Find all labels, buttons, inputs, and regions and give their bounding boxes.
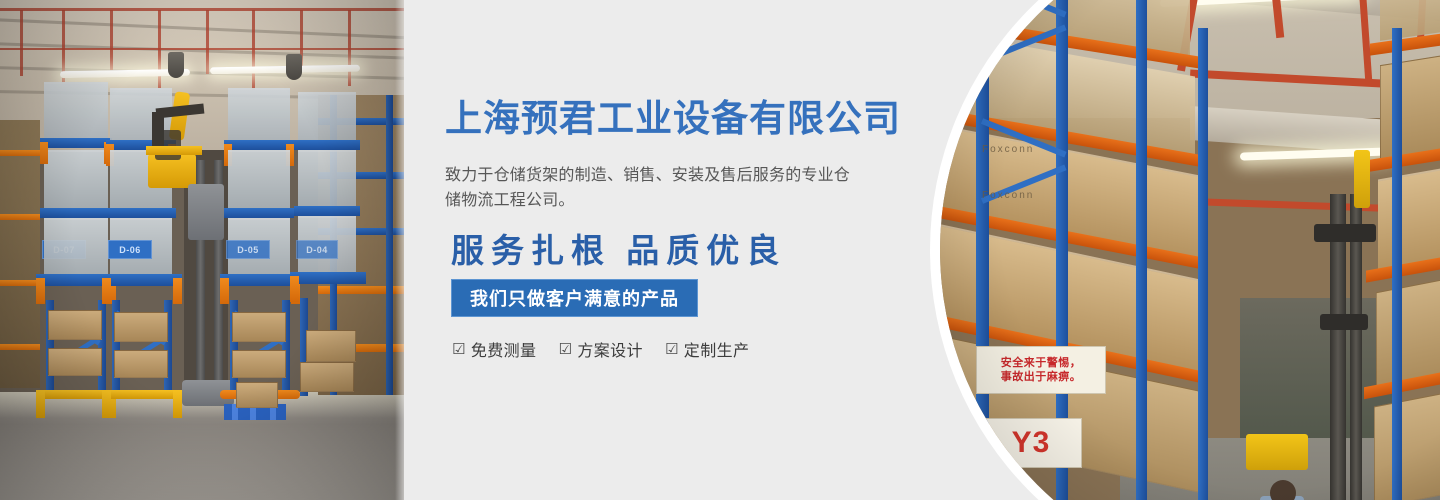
company-title: 上海预君工业设备有限公司 bbox=[445, 100, 901, 137]
feature-item-custom-production: ☑ 定制生产 bbox=[665, 337, 749, 361]
hero-text-panel: 上海预君工业设备有限公司 致力于仓储货架的制造、销售、安装及售后服务的专业仓储物… bbox=[404, 0, 1004, 500]
feature-item-free-measure: ☑ 免费测量 bbox=[452, 337, 536, 361]
feature-item-plan-design: ☑ 方案设计 bbox=[558, 337, 642, 361]
hero-banner: D-07 D-06 bbox=[0, 0, 1440, 500]
feature-label: 定制生产 bbox=[684, 337, 750, 361]
feature-label: 免费测量 bbox=[471, 337, 537, 361]
left-warehouse-photo: D-07 D-06 bbox=[0, 0, 404, 500]
photo-edge-fade bbox=[395, 0, 404, 500]
cta-button[interactable]: 我们只做客户满意的产品 bbox=[451, 279, 698, 317]
company-subtitle: 致力于仓储货架的制造、销售、安装及售后服务的专业仓储物流工程公司。 bbox=[445, 163, 865, 213]
feature-label: 方案设计 bbox=[577, 337, 643, 361]
feature-list: ☑ 免费测量 ☑ 方案设计 ☑ 定制生产 bbox=[452, 337, 749, 361]
check-icon: ☑ bbox=[452, 342, 466, 357]
right-warehouse-photo-circle: Foxconn Foxconn Foxconn Foxconn bbox=[930, 0, 1440, 500]
check-icon: ☑ bbox=[558, 342, 572, 357]
carton-brand-label: Foxconn bbox=[984, 6, 1036, 17]
photo-vignette bbox=[940, 0, 1440, 500]
right-warehouse-photo: Foxconn Foxconn Foxconn Foxconn bbox=[940, 0, 1440, 500]
hero-slogan: 服务扎根 品质优良 bbox=[451, 224, 786, 272]
photo-vignette bbox=[0, 0, 404, 500]
check-icon: ☑ bbox=[665, 342, 679, 357]
